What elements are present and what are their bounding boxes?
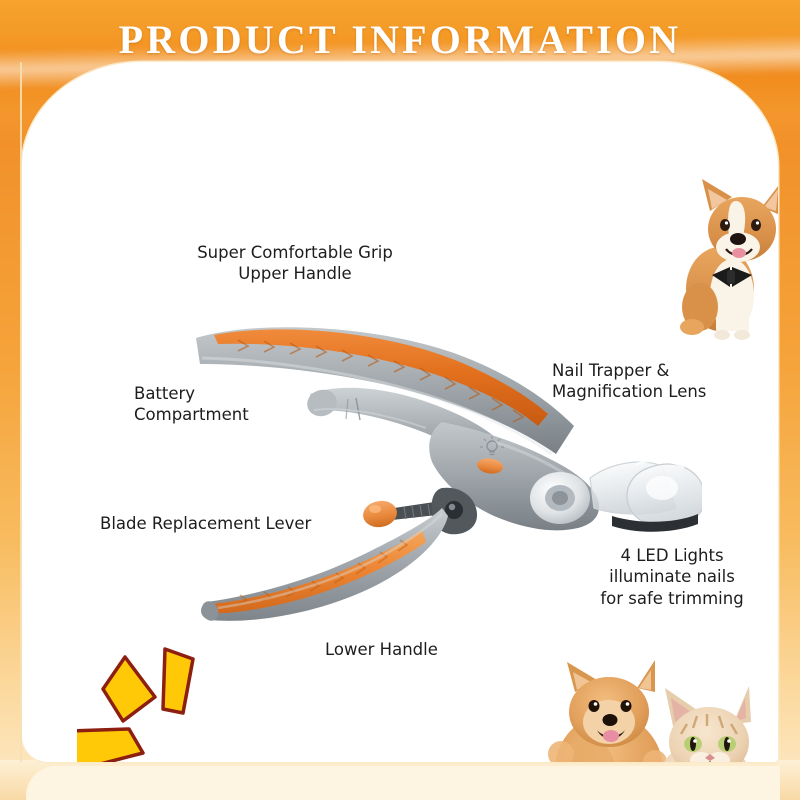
page-title: PRODUCT INFORMATION — [0, 20, 800, 60]
burst-ray-2 — [163, 649, 193, 713]
label-led-lights: 4 LED Lights illuminate nails for safe t… — [597, 545, 747, 609]
burst-ray-1 — [103, 657, 155, 721]
label-lower-handle: Lower Handle — [325, 639, 438, 660]
frame-left-divider — [20, 62, 22, 762]
burst-ray-3 — [77, 729, 143, 762]
content-sheet-inner: Super Comfortable Grip Upper Handle Batt… — [22, 62, 778, 762]
pomeranian-and-cat-photo — [537, 654, 778, 762]
label-blade-replacement-lever: Blade Replacement Lever — [100, 513, 311, 534]
pivot-joint — [530, 472, 590, 524]
frame-bottom-rounded-panel — [26, 766, 780, 800]
label-upper-handle: Super Comfortable Grip Upper Handle — [185, 242, 405, 285]
content-sheet: Super Comfortable Grip Upper Handle Batt… — [22, 62, 778, 762]
product-information-page: Super Comfortable Grip Upper Handle Batt… — [0, 0, 800, 800]
nail-trapper-lens — [590, 461, 702, 532]
yellow-sparkle-rays — [77, 645, 217, 762]
upper-handle — [196, 327, 574, 454]
label-nail-trapper: Nail Trapper & Magnification Lens — [552, 360, 706, 403]
lever-knob[interactable] — [361, 498, 399, 530]
label-battery-compartment: Battery Compartment — [134, 383, 249, 426]
corgi-photo — [670, 167, 778, 342]
